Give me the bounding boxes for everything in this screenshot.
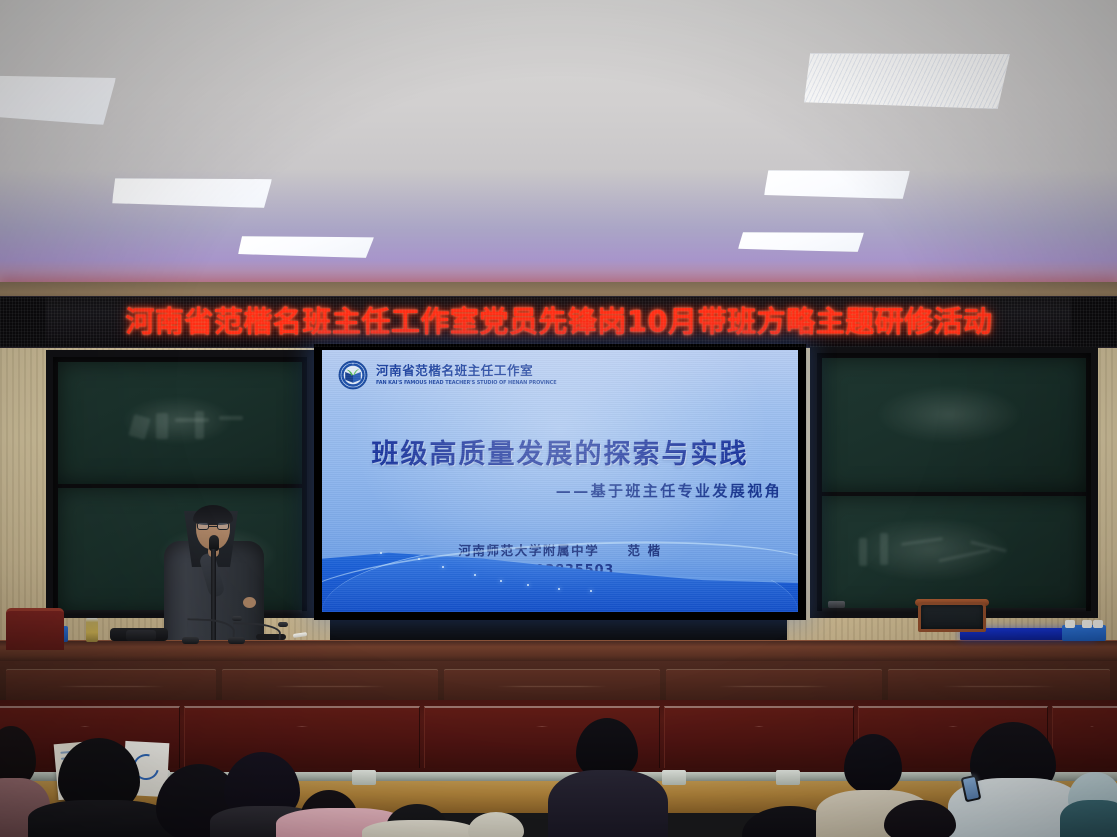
audience-body: [1060, 800, 1117, 837]
presentation-slide: ★ 河南省范楷名班主任工作室 FAN KAI'S FAMOUS HEAD TEA…: [322, 350, 798, 612]
green-chalkboard-right: [810, 346, 1098, 618]
audience-head: [844, 734, 902, 794]
wall-panel: [664, 706, 854, 768]
chalkboard-right-lower-pane: [822, 496, 1086, 612]
slide-subtitle: ——基于班主任专业发展视角: [556, 480, 782, 501]
slide-studio-name-cn: 河南省范楷名班主任工作室: [376, 364, 572, 378]
chair-left: [6, 608, 64, 650]
audience-body: [28, 800, 174, 837]
projection-screen: ★ 河南省范楷名班主任工作室 FAN KAI'S FAMOUS HEAD TEA…: [314, 344, 806, 620]
chair-right: [916, 602, 988, 644]
slide-title: 班级高质量发展的探索与实践: [322, 432, 798, 471]
bench-bracket: [776, 770, 800, 785]
wall-panel: [184, 706, 420, 768]
wall-panel: [1052, 706, 1117, 768]
led-banner-text: 河南省范楷名班主任工作室党员先锋岗10月带班方略主题研修活动: [48, 308, 1070, 337]
desk-blue-tray: [1062, 625, 1106, 641]
bench-bracket: [352, 770, 376, 785]
ceiling-light-5: [238, 236, 374, 258]
chalkboard-right-upper-pane: [822, 358, 1086, 492]
ceiling: [0, 0, 1117, 292]
studio-emblem-icon: ★: [338, 360, 368, 390]
bench-bracket: [662, 770, 686, 785]
gooseneck-microphone: [228, 612, 294, 644]
chalk-eraser: [828, 601, 845, 608]
audience-body: [548, 770, 668, 837]
ceiling-light-2: [804, 53, 1010, 109]
led-banner-right-edge: [1071, 297, 1117, 348]
led-banner: 河南省范楷名班主任工作室党员先锋岗10月带班方略主题研修活动: [0, 296, 1117, 348]
chalkboard-left-upper-pane: [58, 362, 302, 484]
desk-thermos-cup: [86, 618, 98, 642]
desk-dark-object: [126, 630, 156, 641]
presenter-gesturing-hand: [243, 597, 256, 608]
lecture-hall-scene: 河南省范楷名班主任工作室党员先锋岗10月带班方略主题研修活动: [0, 0, 1117, 837]
audience-head: [468, 812, 524, 837]
ceiling-light-1: [0, 75, 116, 125]
ceiling-light-3: [112, 178, 272, 208]
audience-body: [362, 820, 478, 837]
ceiling-light-4: [764, 170, 910, 199]
presenter-glasses-icon: [197, 522, 229, 530]
svg-text:★: ★: [352, 363, 354, 366]
slide-studio-name-en: FAN KAI'S FAMOUS HEAD TEACHER'S STUDIO O…: [376, 380, 557, 386]
slide-header: ★ 河南省范楷名班主任工作室 FAN KAI'S FAMOUS HEAD TEA…: [338, 360, 572, 390]
led-banner-left-edge: [0, 297, 46, 348]
ceiling-light-6: [738, 232, 864, 252]
